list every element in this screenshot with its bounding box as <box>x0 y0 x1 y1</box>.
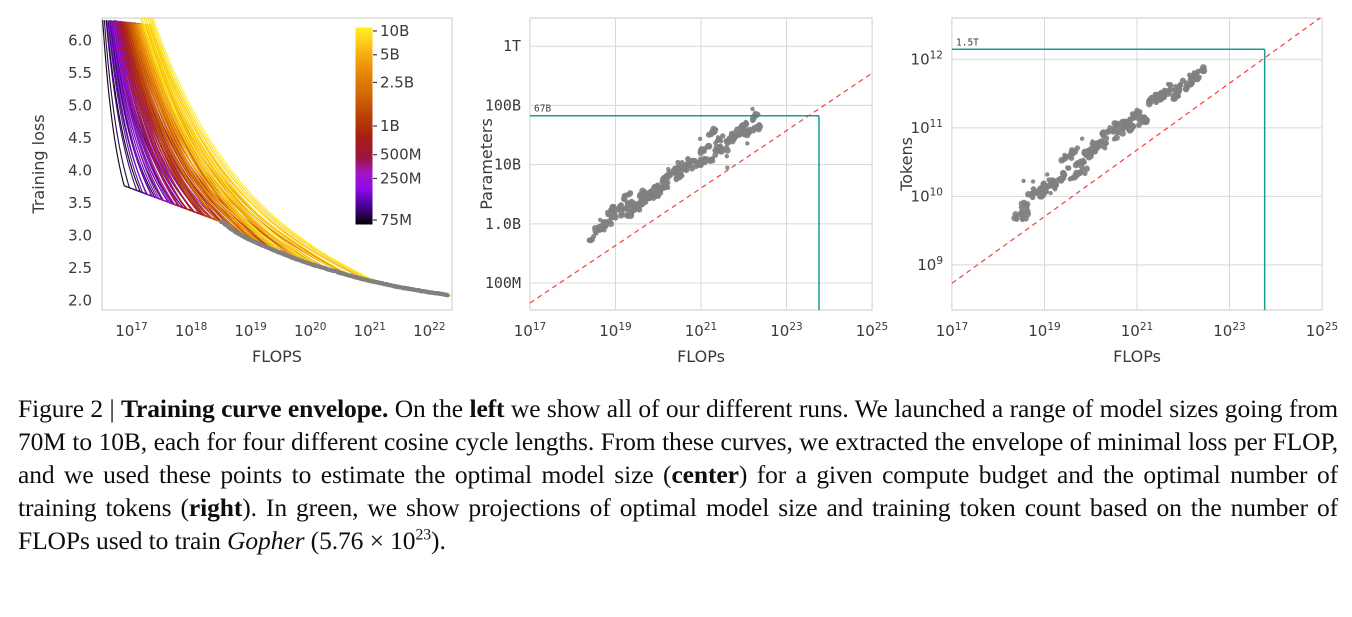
scatter-point-outlier <box>716 135 720 139</box>
scatter-point <box>1137 109 1143 115</box>
scatter-point-outlier <box>1045 172 1049 176</box>
envelope-point <box>446 293 450 297</box>
scatter-point <box>1172 87 1178 93</box>
axis-tick-label: 2.5 <box>68 259 92 277</box>
axis-tick-label: 4.5 <box>68 129 92 147</box>
scatter-point <box>1148 98 1154 104</box>
projection-value-label: 1.5T <box>956 37 979 48</box>
axis-tick-label: 1023 <box>1213 321 1245 340</box>
scatter-point <box>1188 77 1194 83</box>
scatter-point <box>587 238 593 244</box>
axis-tick-label: 6.0 <box>68 32 92 50</box>
x-axis-title: FLOPS <box>252 347 302 366</box>
axis-tick-label: 1021 <box>1121 321 1153 340</box>
axis-tick-label: 1025 <box>1306 321 1338 340</box>
axis-tick-label: 10B <box>494 156 521 174</box>
scatter-point-outlier <box>631 206 635 210</box>
scatter-point-outlier <box>1031 179 1035 183</box>
scatter-point-outlier <box>725 166 729 170</box>
scatter-point <box>1081 159 1087 165</box>
caption-segment: center <box>671 460 738 489</box>
scatter-point-outlier <box>1080 167 1084 171</box>
axis-tick-label: 1020 <box>294 321 326 340</box>
figure-caption: Figure 2 | Training curve envelope. On t… <box>18 392 1338 557</box>
scatter-point-outlier <box>750 107 754 111</box>
scatter-point-outlier <box>1111 130 1115 134</box>
scatter-point <box>711 130 717 136</box>
scatter-point-outlier <box>1053 187 1057 191</box>
scatter-point <box>1042 182 1048 188</box>
scatter-point <box>1060 172 1065 177</box>
x-axis-title: FLOPs <box>677 347 725 366</box>
axis-tick-label: 1022 <box>413 321 445 340</box>
scatter-point <box>1132 113 1138 119</box>
axis-tick-label: 4.0 <box>68 161 92 179</box>
optimal-parameters-chart: 67B100M1.0B10B100B1T10171019102110231025… <box>470 0 890 378</box>
axis-tick-label: 1019 <box>1028 321 1060 340</box>
axis-tick-label: 1018 <box>175 321 207 340</box>
scatter-point <box>1119 130 1126 137</box>
scatter-point <box>1019 215 1025 221</box>
caption-segment: right <box>189 493 242 522</box>
caption-segment: ). <box>431 526 446 555</box>
scatter-point <box>712 148 717 153</box>
caption-segment: Figure 2 | <box>18 394 121 423</box>
scatter-point <box>704 145 709 150</box>
scatter-point <box>1143 119 1149 125</box>
scatter-point-outlier <box>701 160 705 164</box>
y-axis-title: Tokens <box>897 137 916 192</box>
scatter-point <box>1058 157 1065 164</box>
colorbar-tick-label: 5B <box>380 46 400 64</box>
scatter-point <box>1012 211 1018 217</box>
scatter-point-outlier <box>598 218 602 222</box>
scatter-point <box>1153 99 1159 105</box>
scatter-point-outlier <box>1090 139 1094 143</box>
caption-segment: 23 <box>415 527 431 544</box>
axis-tick-label: 1.0B <box>485 215 521 233</box>
scatter-point-outlier <box>708 159 712 163</box>
axis-tick-label: 1012 <box>911 49 943 68</box>
axis-tick-label: 1017 <box>514 321 546 340</box>
axis-tick-label: 1T <box>503 37 521 55</box>
scatter-point-outlier <box>1021 179 1025 183</box>
axis-tick-label: 5.0 <box>68 97 92 115</box>
scatter-point <box>718 149 723 154</box>
scatter-point <box>1024 211 1031 218</box>
scatter-point-outlier <box>1042 192 1046 196</box>
scatter-point-outlier <box>698 137 702 141</box>
axis-tick-label: 1019 <box>234 321 266 340</box>
scatter-point <box>1067 153 1073 159</box>
scatter-point <box>740 125 745 130</box>
scatter-point-outlier <box>1080 137 1084 141</box>
caption-segment: On the <box>388 394 469 423</box>
y-axis-title: Parameters <box>477 118 496 210</box>
axis-tick-label: 3.5 <box>68 194 92 212</box>
colorbar-tick-label: 1B <box>380 117 400 135</box>
scatter-point-outlier <box>1048 191 1052 195</box>
scatter-point <box>627 190 633 196</box>
figure-panels-row: 2.02.53.03.54.04.55.05.56.01017101810191… <box>0 0 1352 378</box>
axis-tick-label: 109 <box>917 255 943 274</box>
axis-tick-label: 1017 <box>936 321 968 340</box>
scatter-point-outlier <box>725 154 729 158</box>
colorbar-tick-label: 75M <box>380 211 412 229</box>
scatter-point <box>1019 205 1025 211</box>
axis-tick-label: 1023 <box>770 321 802 340</box>
optimal-tokens-chart: 1.5T10910101011101210171019102110231025F… <box>890 0 1340 378</box>
scatter-point <box>1171 96 1176 101</box>
axis-tick-label: 2.0 <box>68 291 92 309</box>
scatter-point <box>611 208 616 213</box>
scatter-point-outlier <box>666 167 670 171</box>
scatter-point <box>602 227 607 232</box>
scatter-point <box>1102 140 1108 146</box>
scatter-point <box>624 212 630 218</box>
scatter-point <box>724 147 730 153</box>
scatter-point-outlier <box>625 201 629 205</box>
scatter-point <box>1189 82 1194 87</box>
scatter-point <box>624 206 630 212</box>
scatter-point-outlier <box>1062 153 1066 157</box>
caption-segment: Training curve envelope. <box>121 394 388 423</box>
projection-value-label: 67B <box>534 104 551 115</box>
axis-tick-label: 1021 <box>685 321 717 340</box>
scatter-point <box>636 203 642 209</box>
scatter-point <box>1177 83 1182 88</box>
panel-optimal-parameters: 67B100M1.0B10B100B1T10171019102110231025… <box>470 0 890 378</box>
scatter-point <box>659 184 665 190</box>
scatter-point <box>1100 131 1106 137</box>
axis-tick-label: 1011 <box>911 118 943 137</box>
axis-tick-label: 3.0 <box>68 226 92 244</box>
scatter-point <box>1113 134 1120 141</box>
colorbar-tick-label: 10B <box>380 22 409 40</box>
scatter-point-outlier <box>1074 170 1078 174</box>
scatter-point <box>688 165 695 172</box>
scatter-point <box>674 171 681 178</box>
panel-optimal-tokens: 1.5T10910101011101210171019102110231025F… <box>890 0 1340 378</box>
scatter-point <box>1163 88 1168 93</box>
panel-training-curves: 2.02.53.03.54.04.55.05.56.01017101810191… <box>18 0 470 378</box>
scatter-point <box>734 126 740 132</box>
axis-tick-label: 1021 <box>354 321 386 340</box>
scatter-point <box>680 166 685 171</box>
axis-tick-label: 1019 <box>599 321 631 340</box>
scatter-point <box>1127 127 1133 133</box>
axis-tick-label: 100B <box>485 96 521 114</box>
scatter-point <box>1053 181 1059 187</box>
scatter-point <box>675 160 680 165</box>
scatter-point-outlier <box>1166 82 1170 86</box>
scatter-point <box>1082 171 1087 176</box>
colorbar-tick-label: 2.5B <box>380 73 414 91</box>
scatter-point <box>1024 204 1029 209</box>
scatter-point <box>1068 177 1073 182</box>
caption-segment: Gopher <box>227 526 304 555</box>
axis-tick-label: 5.5 <box>68 64 92 82</box>
x-axis-title: FLOPs <box>1113 347 1161 366</box>
training-curves-chart: 2.02.53.03.54.04.55.05.56.01017101810191… <box>18 0 470 378</box>
scatter-point-outlier <box>745 141 749 145</box>
scatter-point <box>733 134 738 139</box>
colorbar <box>355 27 373 225</box>
scatter-point <box>628 201 633 206</box>
caption-segment: left <box>469 394 504 423</box>
axis-tick-label: 1025 <box>856 321 888 340</box>
scatter-point <box>619 206 625 212</box>
axis-tick-label: 1017 <box>115 321 147 340</box>
scatter-point-outlier <box>645 196 649 200</box>
caption-segment: (5.76 × 10 <box>304 526 415 555</box>
axis-tick-label: 100M <box>485 274 521 292</box>
colorbar-tick-label: 250M <box>380 169 422 187</box>
y-axis-title: Training loss <box>29 114 48 214</box>
scatter-point <box>622 193 628 199</box>
scatter-point <box>1200 66 1206 72</box>
scatter-point-outlier <box>1065 165 1069 169</box>
scatter-point <box>757 123 763 129</box>
figure-container: 2.02.53.03.54.04.55.05.56.01017101810191… <box>0 0 1352 617</box>
colorbar-tick-label: 500M <box>380 146 422 164</box>
